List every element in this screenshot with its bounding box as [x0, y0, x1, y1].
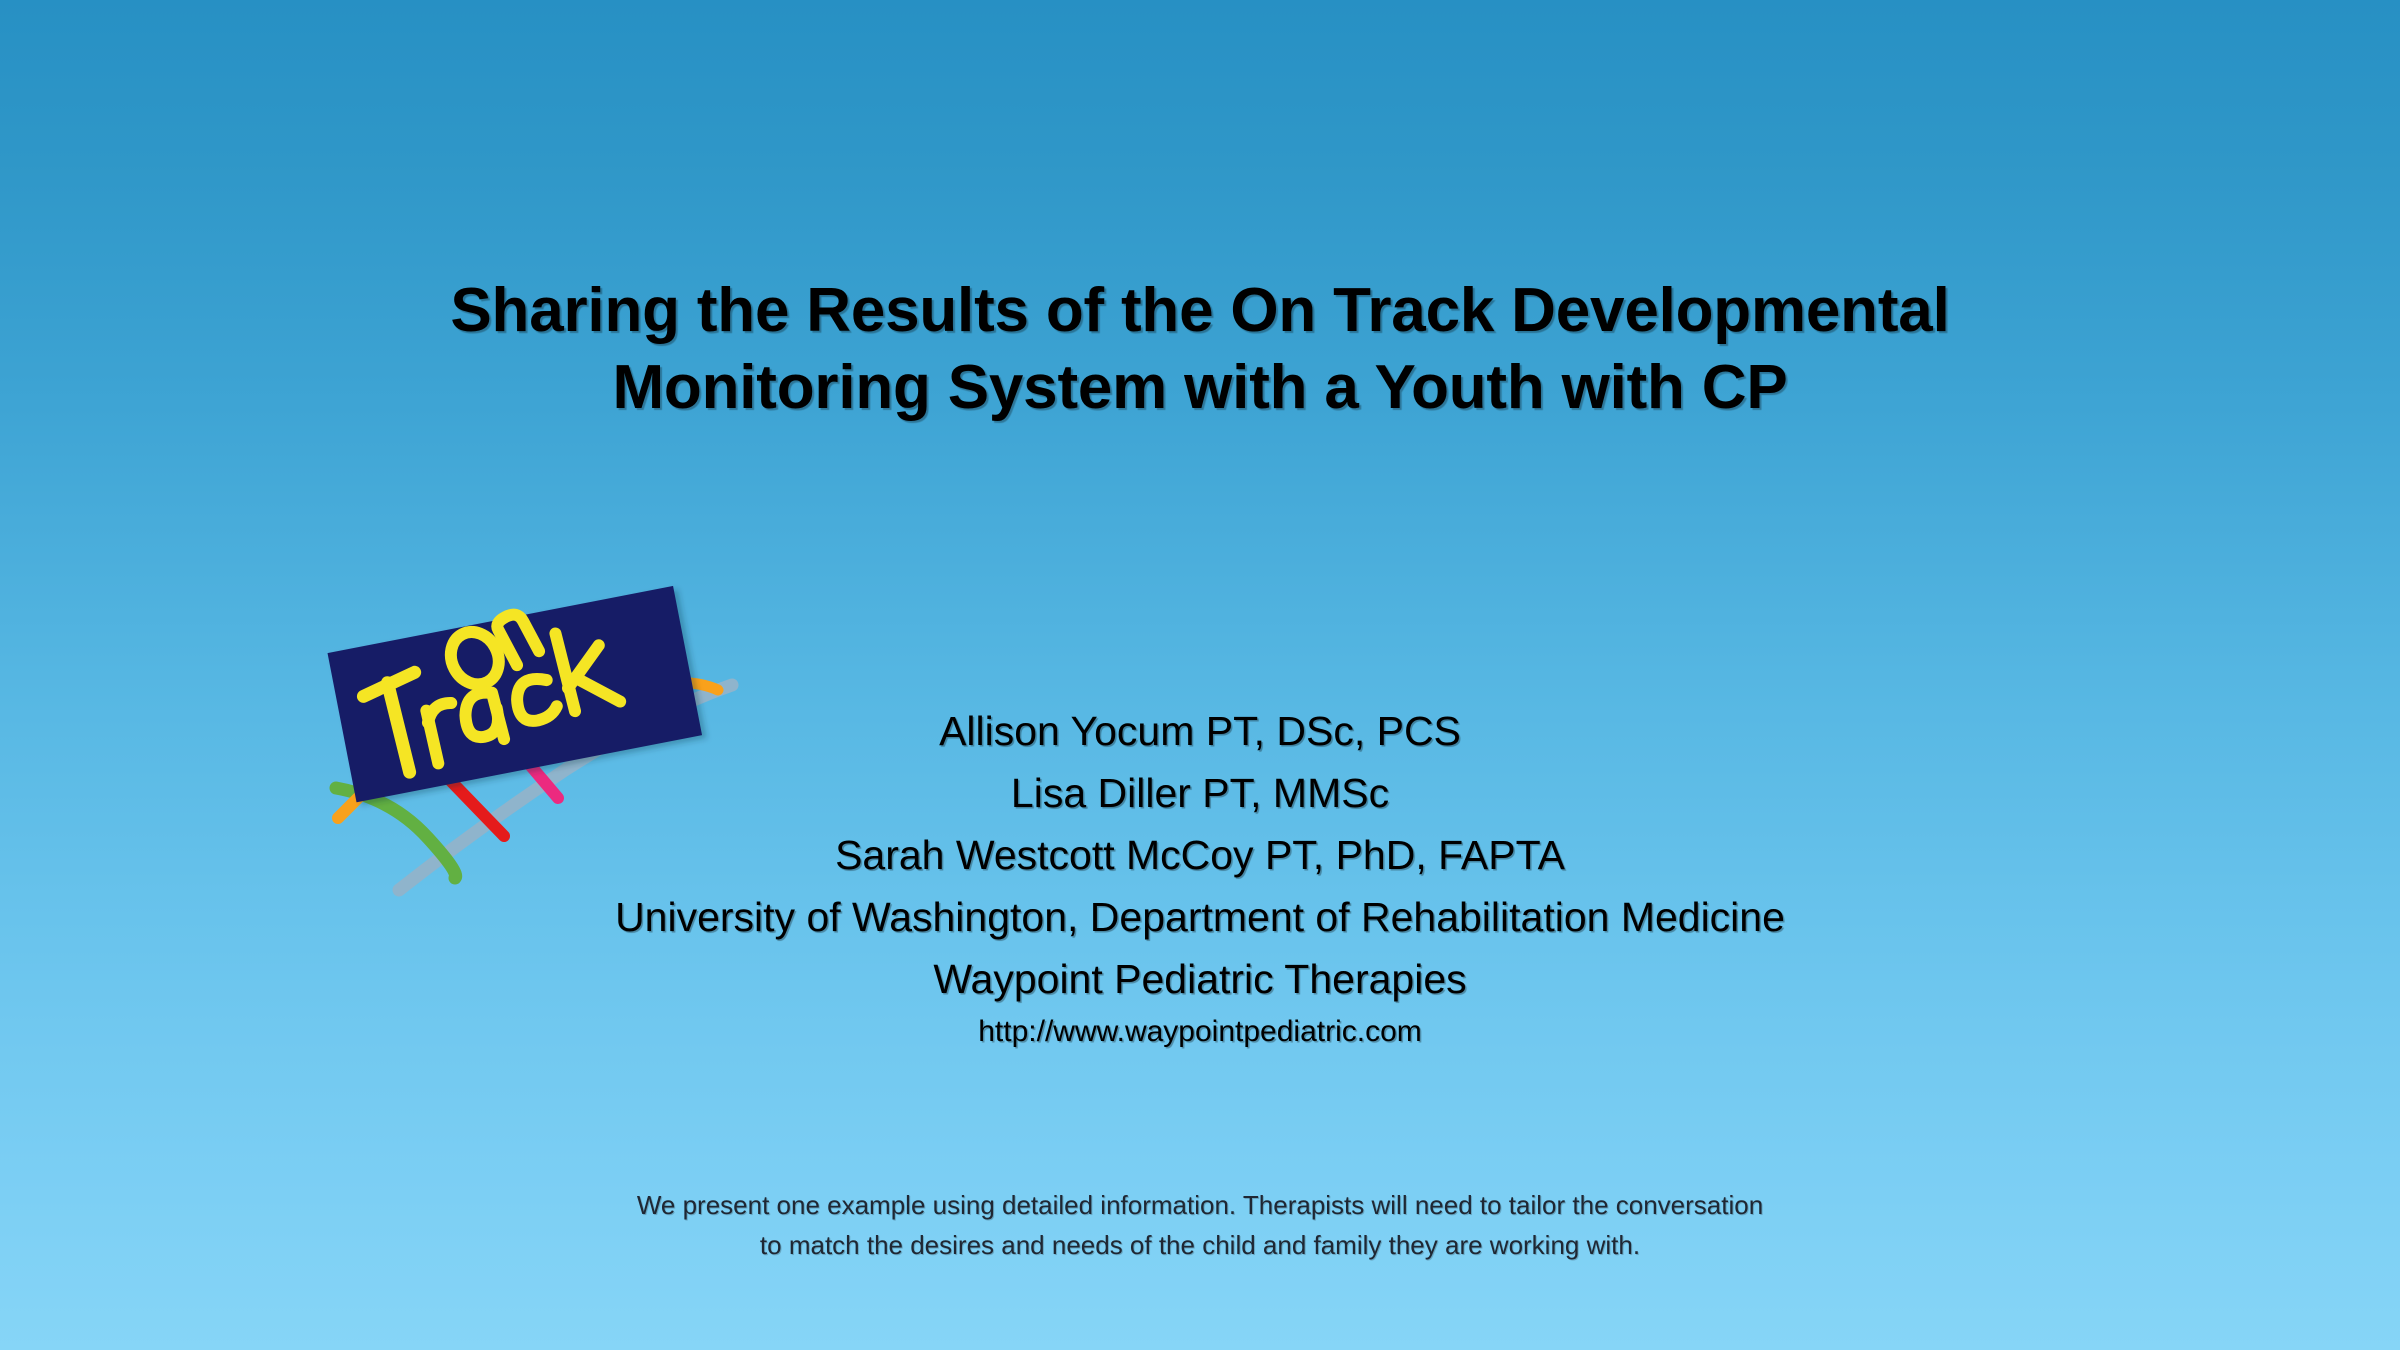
footer-note: We present one example using detailed in… — [400, 1185, 2000, 1265]
title-line-1: Sharing the Results of the On Track Deve… — [300, 272, 2100, 349]
affiliation-2: Waypoint Pediatric Therapies — [400, 948, 2000, 1010]
author-affiliation-block: Allison Yocum PT, DSc, PCS Lisa Diller P… — [400, 700, 2000, 1054]
author-name-1: Allison Yocum PT, DSc, PCS — [400, 700, 2000, 762]
title-line-2: Monitoring System with a Youth with CP — [300, 349, 2100, 426]
affiliation-1: University of Washington, Department of … — [400, 886, 2000, 948]
page-title: Sharing the Results of the On Track Deve… — [300, 272, 2100, 426]
website-url[interactable]: http://www.waypointpediatric.com — [400, 1010, 2000, 1054]
author-name-2: Lisa Diller PT, MMSc — [400, 762, 2000, 824]
author-name-3: Sarah Westcott McCoy PT, PhD, FAPTA — [400, 824, 2000, 886]
footer-note-line-2: to match the desires and needs of the ch… — [400, 1225, 2000, 1265]
footer-note-line-1: We present one example using detailed in… — [400, 1185, 2000, 1225]
presentation-slide: Sharing the Results of the On Track Deve… — [0, 0, 2400, 1350]
